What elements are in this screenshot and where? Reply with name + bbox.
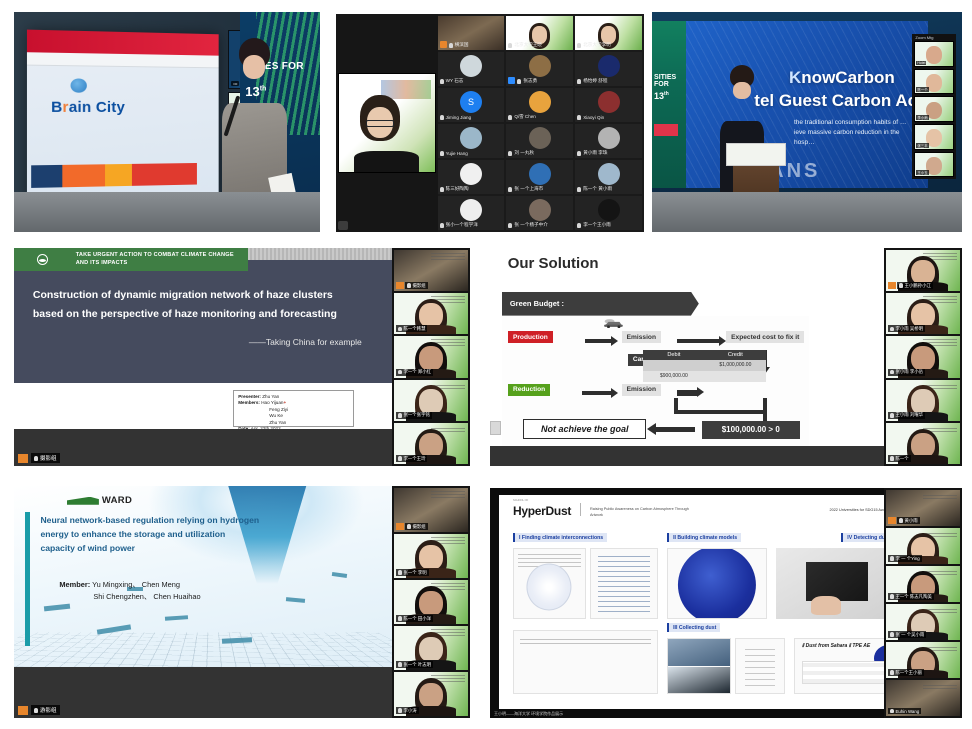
haze-heading-line2: based on the perspective of haze monitor… <box>33 305 369 324</box>
member-row-1: Member: Yu Mingxing、 Chen Meng <box>59 579 200 591</box>
table-header-credit: Credit <box>705 350 766 360</box>
participant-name: 张志勇 <box>508 78 571 84</box>
microphone-icon <box>440 115 444 120</box>
participant-tile[interactable]: 张小雨 李小岳 <box>886 336 960 377</box>
zoom-participant-tile[interactable]: SJiming Jiang <box>438 88 505 122</box>
microphone-icon <box>398 708 402 713</box>
avatar <box>598 91 620 113</box>
zoom-corner-control[interactable] <box>338 221 348 230</box>
presentation-share-view: WARD Neural network-based regulation rel… <box>14 486 470 718</box>
participant-name: 张 一 个吴小雨 <box>888 631 926 638</box>
braincity-title: Brain City <box>51 98 167 115</box>
participant-tile[interactable]: 王小鹏孙小江 <box>886 250 960 291</box>
microphone-icon <box>577 79 581 84</box>
stage-background: Brain City ••• ••• ••• <box>14 12 320 232</box>
participant-name: 摄影组 <box>405 282 428 289</box>
microphone-icon <box>517 79 521 84</box>
member-block: Member: Yu Mingxing、 Chen Meng Shi Cheng… <box>59 579 200 603</box>
panel-our-solution[interactable]: Our Solution Green Budget : Production E… <box>490 248 962 466</box>
participant-tile[interactable]: 李小涛 <box>394 672 468 716</box>
award-logo: WARD <box>67 495 132 506</box>
braincity-title-b: B <box>51 98 62 115</box>
participant-name: Xiaoyi Qin <box>577 115 640 120</box>
award-label: 2022 Universities for SDG15 Award <box>829 508 889 514</box>
microphone-icon <box>440 187 444 192</box>
participant-name: 陈一个 <box>916 87 928 92</box>
avatar <box>460 55 482 77</box>
microphone-icon <box>577 187 581 192</box>
shared-slide-area[interactable]: Our Solution Green Budget : Production E… <box>490 248 884 466</box>
slide-drag-handle[interactable] <box>490 421 501 435</box>
host-badge-icon <box>396 282 404 289</box>
host-badge-icon <box>888 282 896 289</box>
participant-name: 张小雨 李小岳 <box>888 369 925 376</box>
active-speaker-label: 摄影组 <box>31 453 60 463</box>
microphone-icon <box>890 456 894 461</box>
zoom-participant-tile[interactable]: 刘 一丸秋 <box>506 124 573 158</box>
participant-tile[interactable]: 摄影组 <box>394 250 468 291</box>
participant-name: 李小雨 <box>916 115 928 120</box>
microphone-icon <box>890 709 894 714</box>
zoom-participant-tile[interactable]: 张 一个杨子中介 <box>506 196 573 230</box>
amount-box: $100,000.00 > 0 <box>702 421 800 439</box>
participant-name: WY 石志 <box>440 78 503 84</box>
zoom-participant-tile[interactable]: 横滨国 <box>438 16 505 50</box>
avatar <box>529 91 551 113</box>
zoom-participant-tile[interactable]: 李一个王小雨 <box>575 196 642 230</box>
poster-card-collecting-photos[interactable] <box>667 638 730 694</box>
arrow-production-to-emission <box>585 339 613 343</box>
blue-globe-graphic <box>678 548 756 619</box>
section-header-2: II Building climate models <box>667 533 741 542</box>
zoom-participant-tile[interactable]: 黄小雨 李珠 <box>575 124 642 158</box>
microphone-icon <box>34 456 38 461</box>
avatar <box>460 127 482 149</box>
microphone-icon <box>440 151 444 156</box>
panel-stage-knowcarbon[interactable]: KnowCarbon tel Guest Carbon Acc the trad… <box>652 12 962 232</box>
participant-tile[interactable]: 李一个 郑小红 <box>394 336 468 377</box>
panel-zoom-gallery[interactable]: 横滨国北京大学王晓北京大学李明WY 石志张志勇杨怡婷 舒程SJiming Jia… <box>336 14 644 232</box>
participant-tile[interactable]: 张 一 个吴小雨 <box>886 604 960 640</box>
stage-floor <box>652 192 962 232</box>
poster-caption: 王小明——海洋大学 环境学院作品展示 <box>494 711 563 717</box>
microphone-icon <box>577 223 581 228</box>
participant-tile[interactable]: 张一个 李明 <box>394 534 468 578</box>
zoom-participant-tile[interactable]: 张志勇 <box>506 52 573 86</box>
zoom-participant-tile[interactable]: 北京大学王晓 <box>506 16 573 50</box>
avatar: S <box>460 91 482 113</box>
participant-name: 李一个 郑小红 <box>396 369 433 376</box>
host-badge-icon <box>888 517 896 524</box>
zoom-participant-tile[interactable]: WY 石志 <box>438 52 505 86</box>
knowcarbon-subtitle: tel Guest Carbon Acc <box>754 91 926 111</box>
panel-stage-braincity[interactable]: Brain City ••• ••• ••• <box>14 12 320 232</box>
sahara-title: ⅱ Dust from Sahara ⅱ TPE AE <box>802 643 870 651</box>
participant-tile[interactable]: 陈一个 <box>886 423 960 464</box>
microphone-icon <box>508 151 512 156</box>
participant-tile[interactable]: 陈一个 <box>914 69 953 95</box>
connector-left-vertical <box>674 398 678 411</box>
arrow-emission-to-table <box>677 390 699 396</box>
knowcarbon-title: KnowCarbon <box>789 68 895 88</box>
participant-tile[interactable]: 李小雨 吴桥明 <box>886 293 960 334</box>
microphone-icon <box>890 670 894 675</box>
zoom-participant-tile[interactable]: 陈一个 黄小雨 <box>575 160 642 194</box>
poster-card-chart[interactable] <box>590 548 658 619</box>
participant-tile[interactable]: 王小玉 <box>914 152 953 178</box>
chalkboard-object <box>806 562 869 600</box>
globe-icon <box>37 254 48 265</box>
microphone-icon <box>398 570 402 575</box>
wind-participant-strip[interactable]: 摄影组张一个 李明陈一个 田小洋张一个 叶志明李小涛 <box>392 486 470 718</box>
active-speaker-label: 游影组 <box>31 705 60 715</box>
slide-top-bar <box>248 248 392 260</box>
panel-wind-slide[interactable]: WARD Neural network-based regulation rel… <box>14 486 470 718</box>
chip-emission-bottom: Emission <box>622 384 661 396</box>
un-goal-text: TAKE URGENT ACTION TO COMBAT CLIMATE CHA… <box>71 248 249 271</box>
microphone-icon <box>508 223 512 228</box>
microphone-icon <box>440 79 444 84</box>
participant-name: 李小涛 <box>396 707 419 714</box>
participant-face <box>601 26 616 43</box>
microphone-icon <box>508 187 512 192</box>
avatar <box>529 163 551 185</box>
participant-name: 陈一个王小丽 <box>888 669 924 676</box>
participant-face <box>419 545 443 570</box>
microphone-icon <box>890 632 894 637</box>
microphone-icon <box>899 518 903 523</box>
microphone-icon <box>577 151 581 156</box>
participant-name: 王小雨 刘曜华 <box>888 412 925 419</box>
event-side-banner: SITIES FOR 13th <box>652 21 686 188</box>
chip-expected-cost: Expected cost to fix it <box>726 331 804 343</box>
participant-name: Qi雪 Chen <box>508 114 571 120</box>
participant-tile[interactable]: 李 一 个Ying <box>886 528 960 564</box>
participant-tile[interactable]: 李小雨 <box>914 96 953 122</box>
slide-title: Our Solution <box>508 255 599 272</box>
braincity-color-bars <box>31 163 197 188</box>
table-row: $1,000,000.00 <box>643 360 766 371</box>
tile-watermark <box>923 683 957 689</box>
participant-tile[interactable]: 王小雨 刘曜华 <box>886 380 960 421</box>
debit-credit-table: Debit Credit $1,000,000.00 $900,000.00 <box>643 350 766 382</box>
speaker-face <box>243 55 266 79</box>
microphone-icon <box>398 456 402 461</box>
speaker-face <box>733 82 750 99</box>
our-solution-slide: Our Solution Green Budget : Production E… <box>490 248 884 466</box>
tile-watermark <box>431 253 465 260</box>
slide-bottom-bar <box>490 446 884 466</box>
participant-name: 摄影组 <box>405 523 428 530</box>
diagram-sketch <box>745 646 776 687</box>
shared-slide-area[interactable]: TAKE URGENT ACTION TO COMBAT CLIMATE CHA… <box>14 248 392 466</box>
microphone-icon <box>407 283 411 288</box>
brand-divider <box>580 503 581 516</box>
car-icon <box>603 318 625 328</box>
avatar <box>598 55 620 77</box>
arrow-emission-to-cost <box>677 339 720 343</box>
participant-tile[interactable]: 摄影组 <box>394 488 468 532</box>
poster-brand: HyperDust Raising Public Awareness on Ca… <box>513 503 695 518</box>
zoom-participant-grid[interactable]: 横滨国北京大学王晓北京大学李明WY 石志张志勇杨怡婷 舒程SJiming Jia… <box>438 14 644 232</box>
presentation-share-view: TAKE URGENT ACTION TO COMBAT CLIMATE CHA… <box>14 248 470 466</box>
participant-name: 张小一个程学洋 <box>440 222 503 228</box>
participant-name: 陈一个 田小洋 <box>396 615 433 622</box>
participant-name: 张一个 李明 <box>396 569 429 576</box>
table-row: $900,000.00 <box>643 371 766 382</box>
microphone-icon <box>890 413 894 418</box>
microphone-icon <box>890 327 894 332</box>
arrow-amount-to-goal <box>655 427 695 432</box>
presenter-info-box: Presenter: Zhu Yan Members: Hao Yijuan+ … <box>233 390 354 427</box>
hand-photo <box>811 596 841 614</box>
avatar <box>529 199 551 221</box>
presentation-share-view: Our Solution Green Budget : Production E… <box>490 248 962 466</box>
wind-power-slide: WARD Neural network-based regulation rel… <box>14 486 392 718</box>
poster-school-label: SCHOOL OF <box>513 499 528 502</box>
zoom-participant-tile[interactable]: Xiaoyi Qin <box>575 88 642 122</box>
microphone-icon <box>899 283 903 288</box>
microphone-icon <box>398 370 402 375</box>
active-speaker-bar: 摄影组 <box>18 453 60 463</box>
avatar <box>529 127 551 149</box>
strip-header: Zoom Mtg <box>915 35 933 40</box>
participant-tile[interactable]: Hotel <box>914 41 953 67</box>
haze-heading-line1: Construction of dynamic migration networ… <box>33 286 369 305</box>
microphone-icon <box>890 370 894 375</box>
article-heading-lines <box>520 636 652 645</box>
participant-name: 陈三好陶陶 <box>440 186 503 192</box>
participant-name: 王一个 陈志凡陶美 <box>888 593 934 600</box>
poster-card-climate-model[interactable] <box>667 548 767 619</box>
participant-name: Euhin Wang <box>888 708 921 714</box>
diagram-canvas: Production Emission Carbon price Expe <box>502 316 809 447</box>
participant-name: 黄小雨 <box>897 517 920 524</box>
braincity-logo-icon <box>71 78 87 92</box>
cell-credit-1: $1,000,000.00 <box>705 360 766 371</box>
haze-subheading: ——Taking China for example <box>249 337 362 347</box>
participant-tile[interactable]: 张三丰 <box>914 124 953 150</box>
participant-tile[interactable]: 张一个张宇铭 <box>394 380 468 421</box>
un-sdg-logo <box>14 248 71 271</box>
poster-card-articles[interactable] <box>513 630 658 694</box>
microphone-icon <box>398 413 402 418</box>
accent-bar <box>25 512 30 647</box>
participant-name: Jiming Jiang <box>440 115 503 120</box>
avatar <box>598 163 620 185</box>
participant-name: 李小雨 吴桥明 <box>888 325 925 332</box>
active-speaker-bar: 游影组 <box>18 705 60 715</box>
section-header-1: I Finding climate interconnections <box>513 533 607 542</box>
zoom-participant-tile[interactable]: 张 一个上海市 <box>506 160 573 194</box>
participant-torso <box>354 151 419 173</box>
side-banner-pill <box>654 124 678 136</box>
connector-horizontal <box>674 410 766 414</box>
braincity-title-rest: ain City <box>69 98 125 115</box>
slide-bottom-bar <box>14 667 392 718</box>
green-budget-banner: Green Budget : <box>502 292 699 316</box>
member-row-2: Shi Chengzhen、 Chen Huaihao <box>59 591 200 603</box>
avatar <box>460 199 482 221</box>
avatar <box>460 163 482 185</box>
screenshot-collage: Brain City ••• ••• ••• <box>0 0 972 729</box>
participant-tile[interactable]: 王一个 陈志凡陶美 <box>886 566 960 602</box>
participant-tile[interactable]: 陈一个 田小洋 <box>394 580 468 624</box>
participant-tile[interactable]: 黄小雨 <box>886 490 960 526</box>
microphone-icon <box>508 43 512 48</box>
participant-name: 陈一个韩慧 <box>396 325 427 332</box>
participant-name: 北京大学王晓 <box>508 42 571 48</box>
stage-floor <box>14 192 320 232</box>
brand-name: HyperDust <box>513 504 571 518</box>
chip-production: Production <box>508 331 553 343</box>
side-banner-text: SITIES FOR <box>654 74 686 88</box>
tile-watermark <box>923 493 957 499</box>
arrow-reduction-to-emission <box>582 391 613 395</box>
microphone-icon <box>440 223 444 228</box>
zoom-participant-tile[interactable]: Qi雪 Chen <box>506 88 573 122</box>
microphone-icon <box>890 556 894 561</box>
chip-reduction: Reduction <box>508 384 550 396</box>
collect-photo-bottom <box>668 667 729 693</box>
participant-name: 黄小雨 李珠 <box>577 150 640 156</box>
hyperdust-participant-strip[interactable]: 黄小雨李 一 个Ying王一个 陈志凡陶美张 一 个吴小雨陈一个王小丽Euhin… <box>884 488 962 718</box>
microphone-icon <box>407 524 411 529</box>
participant-name: 张 一个上海市 <box>508 186 571 192</box>
host-badge-icon <box>396 523 404 530</box>
participant-face <box>419 637 443 662</box>
participant-name: 北京大学李明 <box>577 42 640 48</box>
table-header-row: Debit Credit <box>643 350 766 360</box>
participant-tile[interactable]: Euhin Wang <box>886 680 960 716</box>
participant-name: 张一个 叶志明 <box>396 661 433 668</box>
participant-name: 陈一个 黄小雨 <box>577 186 640 192</box>
collect-photo-top <box>668 639 729 666</box>
participant-face <box>419 683 443 708</box>
section-header-3: III Collecting dust <box>667 623 720 632</box>
participant-name: 陈一个 <box>888 455 911 462</box>
podium-plate <box>726 143 786 166</box>
participant-name: 张一个张宇铭 <box>396 412 432 419</box>
avatar <box>598 127 620 149</box>
chart-placeholder <box>598 556 651 612</box>
host-badge-icon <box>18 706 28 715</box>
host-badge-icon <box>18 454 28 463</box>
zoom-spotlight-column[interactable] <box>336 14 438 232</box>
panel-haze-slide[interactable]: TAKE URGENT ACTION TO COMBAT CLIMATE CHA… <box>14 248 470 466</box>
panel-hyperdust[interactable]: SCHOOL OF HyperDust Raising Public Aware… <box>490 488 962 718</box>
participant-name: 刘 一丸秋 <box>508 150 571 156</box>
participant-name: Hotel <box>916 61 926 65</box>
participant-name: Yujie Hang <box>440 151 503 156</box>
tile-watermark <box>431 491 465 498</box>
microphone-icon <box>890 594 894 599</box>
logo-swoosh-icon <box>67 497 99 505</box>
shared-slide-area[interactable]: WARD Neural network-based regulation rel… <box>14 486 392 718</box>
hyperdust-share-view: SCHOOL OF HyperDust Raising Public Aware… <box>490 488 962 718</box>
chip-emission-top: Emission <box>622 331 661 343</box>
zoom-participant-tile[interactable]: 张小一个程学洋 <box>438 196 505 230</box>
glasses-icon <box>366 120 395 127</box>
our-solution-participant-strip[interactable]: 王小鹏孙小江李小雨 吴桥明张小雨 李小岳王小雨 刘曜华陈一个 <box>884 248 962 466</box>
brand-subtitle: Raising Public Awareness on Carbon Atmos… <box>590 507 695 518</box>
avatar <box>598 199 620 221</box>
microphone-icon <box>508 115 512 120</box>
goal-result-box: Not achieve the goal <box>523 419 646 439</box>
microphone-icon <box>449 43 453 48</box>
cell-debit-1 <box>643 360 704 371</box>
slide-bottom-bar <box>14 429 392 466</box>
haze-participant-strip[interactable]: 摄影组陈一个韩慧李一个 郑小红张一个张宇铭李一个王玲 <box>392 248 470 466</box>
ppt-ribbon <box>27 29 218 55</box>
haze-slide-body: TAKE URGENT ACTION TO COMBAT CLIMATE CHA… <box>14 248 392 383</box>
wind-heading: Neural network-based regulation relying … <box>40 514 259 556</box>
participant-tile[interactable]: 陈一个韩慧 <box>394 293 468 334</box>
participant-face <box>926 46 942 64</box>
knowcarbon-participant-strip[interactable]: Zoom Mtg Hotel陈一个李小雨张三丰王小玉 <box>912 34 955 179</box>
zoom-participant-tile[interactable]: 陈三好陶陶 <box>438 160 505 194</box>
participant-name: 张 一个杨子中介 <box>508 222 571 228</box>
participant-face <box>532 26 547 43</box>
cell-debit-2: $900,000.00 <box>643 371 704 382</box>
zoom-participant-tile[interactable]: 杨怡婷 舒程 <box>575 52 642 86</box>
participant-name: 李一个王玲 <box>396 455 427 462</box>
participant-name: 杨怡婷 舒程 <box>577 78 640 84</box>
microphone-icon <box>398 616 402 621</box>
slide-screen-braincity: Brain City <box>27 29 218 201</box>
microphone-icon <box>34 708 38 713</box>
poster-card-network[interactable] <box>513 548 586 619</box>
participant-name: 横滨国 <box>440 42 503 48</box>
microphone-icon <box>398 327 402 332</box>
microphone-icon <box>398 662 402 667</box>
zoom-gallery-view: 横滨国北京大学王晓北京大学李明WY 石志张志勇杨怡婷 舒程SJiming Jia… <box>336 14 644 232</box>
participant-face <box>419 591 443 616</box>
participant-name: 王小鹏孙小江 <box>897 282 933 289</box>
side-banner-number: 13th <box>654 91 669 101</box>
participant-name: 李 一 个Ying <box>888 555 922 562</box>
participant-tile[interactable]: 李一个王玲 <box>394 423 468 464</box>
perspective-grid <box>14 632 392 667</box>
slide-screen-knowcarbon: KnowCarbon tel Guest Carbon Acc the trad… <box>680 21 928 188</box>
participant-name: 张三丰 <box>916 143 928 148</box>
zoom-participant-tile[interactable]: 北京大学李明 <box>575 16 642 50</box>
knowcarbon-body: the traditional consumption habits of … … <box>794 118 913 148</box>
poster-card-diagram[interactable] <box>735 638 785 694</box>
microphone-icon <box>577 115 581 120</box>
participant-tile[interactable]: 张一个 叶志明 <box>394 626 468 670</box>
participant-name: 王小玉 <box>916 170 928 175</box>
microphone-icon <box>577 43 581 48</box>
table-header-debit: Debit <box>643 350 704 360</box>
participant-name: 李一个王小雨 <box>577 222 640 228</box>
cell-credit-2 <box>705 371 766 382</box>
ppt-toolbar <box>27 52 218 68</box>
haze-heading: Construction of dynamic migration networ… <box>33 286 369 325</box>
spotlight-video-tile[interactable] <box>338 73 436 173</box>
zoom-participant-tile[interactable]: Yujie Hang <box>438 124 505 158</box>
logo-text: WARD <box>102 495 132 506</box>
participant-tile[interactable]: 陈一个王小丽 <box>886 642 960 678</box>
avatar <box>529 55 551 77</box>
network-diagram-circle <box>527 564 572 611</box>
stage-background: KnowCarbon tel Guest Carbon Acc the trad… <box>652 12 962 232</box>
